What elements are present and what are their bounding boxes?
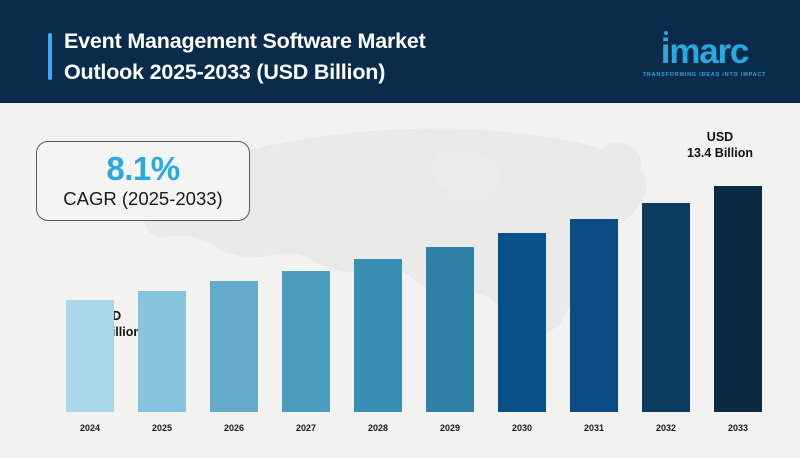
logo-wordmark: imarc — [661, 35, 748, 69]
x-axis-label-2028: 2028 — [354, 423, 402, 433]
infographic-root: Event Management Software Market Outlook… — [0, 0, 800, 458]
bar-2028 — [354, 259, 402, 412]
bar-2026 — [210, 281, 258, 412]
header-banner: Event Management Software Market Outlook… — [0, 0, 800, 103]
x-axis-label-2031: 2031 — [570, 423, 618, 433]
x-axis-label-2024: 2024 — [66, 423, 114, 433]
bar-2029 — [426, 247, 474, 412]
bar-2027 — [282, 271, 330, 412]
bar-2031 — [570, 219, 618, 412]
title-line-1: Event Management Software Market — [64, 26, 624, 57]
bar-2024 — [66, 300, 114, 412]
imarc-logo: imarc TRANSFORMING IDEAS INTO IMPACT — [637, 30, 772, 82]
chart-area: 8.1% CAGR (2025-2033) USD 6.63 Billion U… — [0, 103, 800, 458]
x-axis-label-2027: 2027 — [282, 423, 330, 433]
bar-2033 — [714, 186, 762, 412]
x-axis-label-2033: 2033 — [714, 423, 762, 433]
title-line-2: Outlook 2025-2033 (USD Billion) — [64, 57, 624, 88]
x-axis-label-2032: 2032 — [642, 423, 690, 433]
bar-2025 — [138, 291, 186, 412]
bar-2030 — [498, 233, 546, 412]
x-axis-label-2026: 2026 — [210, 423, 258, 433]
page-title: Event Management Software Market Outlook… — [64, 26, 624, 88]
x-axis-label-2029: 2029 — [426, 423, 474, 433]
logo-dot-icon — [664, 31, 668, 35]
title-accent-bar — [48, 33, 52, 80]
x-axis-label-2025: 2025 — [138, 423, 186, 433]
x-axis-label-2030: 2030 — [498, 423, 546, 433]
bar-plot: 2024202520262027202820292030203120322033 — [0, 103, 800, 458]
bar-2032 — [642, 203, 690, 412]
logo-tagline: TRANSFORMING IDEAS INTO IMPACT — [643, 72, 767, 78]
